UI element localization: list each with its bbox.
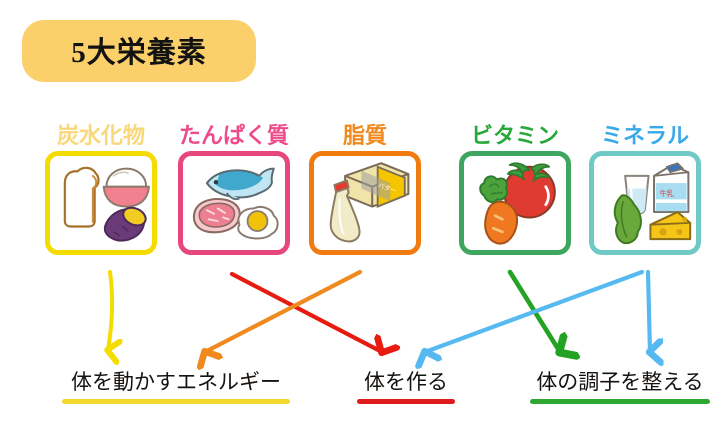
fish-icon (207, 169, 274, 200)
outcome-regulate-underline (530, 399, 710, 404)
sweet-potato-icon (105, 204, 149, 240)
food-box-protein (178, 151, 290, 255)
mineral-foods: 牛乳 (594, 156, 696, 250)
butter-block-icon: バター (345, 163, 408, 206)
broccoli-icon (480, 176, 507, 202)
cheese-wedge-icon (650, 212, 690, 239)
nutrient-label-vitamin: ビタミン (471, 118, 559, 150)
vitamin-foods (464, 156, 566, 250)
arrow-mineral-to-build (425, 272, 642, 352)
rice-bowl-icon (104, 169, 149, 207)
nutrient-label-fat: 脂質 (343, 118, 387, 150)
nutrient-label-mineral: ミネラル (601, 118, 689, 150)
arrow-carb-to-energy (108, 272, 112, 350)
fried-egg-icon (238, 207, 277, 238)
food-box-mineral: 牛乳 (589, 151, 701, 255)
nutrient-label-carbohydrate: 炭水化物 (57, 118, 145, 150)
food-box-vitamin (459, 151, 571, 255)
outcome-build-body-text: 体を作る (357, 366, 455, 396)
title-badge: 5大栄養素 (22, 20, 256, 82)
arrow-mineral-to-regulate (648, 272, 650, 352)
outcome-regulate: 体の調子を整える (530, 366, 710, 404)
infographic-canvas: 5大栄養素 (0, 0, 728, 423)
milk-carton-icon: 牛乳 (654, 163, 688, 212)
nutrient-label-protein: たんぱく質 (179, 118, 289, 150)
outcome-build-body-underline (357, 399, 455, 404)
protein-foods (183, 156, 285, 250)
milk-carton-text: 牛乳 (659, 189, 673, 198)
food-box-carbohydrate (45, 151, 157, 255)
carbohydrate-foods (50, 156, 152, 250)
steak-icon (194, 199, 240, 232)
page-title: 5大栄養素 (71, 29, 207, 71)
carrot-icon (485, 202, 517, 244)
arrow-fat-to-energy (205, 272, 360, 352)
food-box-fat: バター (309, 151, 421, 255)
outcome-energy: 体を動かすエネルギー (62, 366, 290, 404)
outcome-energy-underline (62, 399, 290, 404)
outcome-regulate-text: 体の調子を整える (530, 366, 710, 396)
outcome-energy-text: 体を動かすエネルギー (62, 366, 290, 396)
arrow-protein-to-build (232, 274, 382, 352)
bread-slice-icon (65, 168, 99, 227)
outcome-build-body: 体を作る (357, 366, 455, 404)
arrow-vitamin-to-regulate (510, 272, 560, 352)
fat-foods: バター (314, 156, 416, 250)
